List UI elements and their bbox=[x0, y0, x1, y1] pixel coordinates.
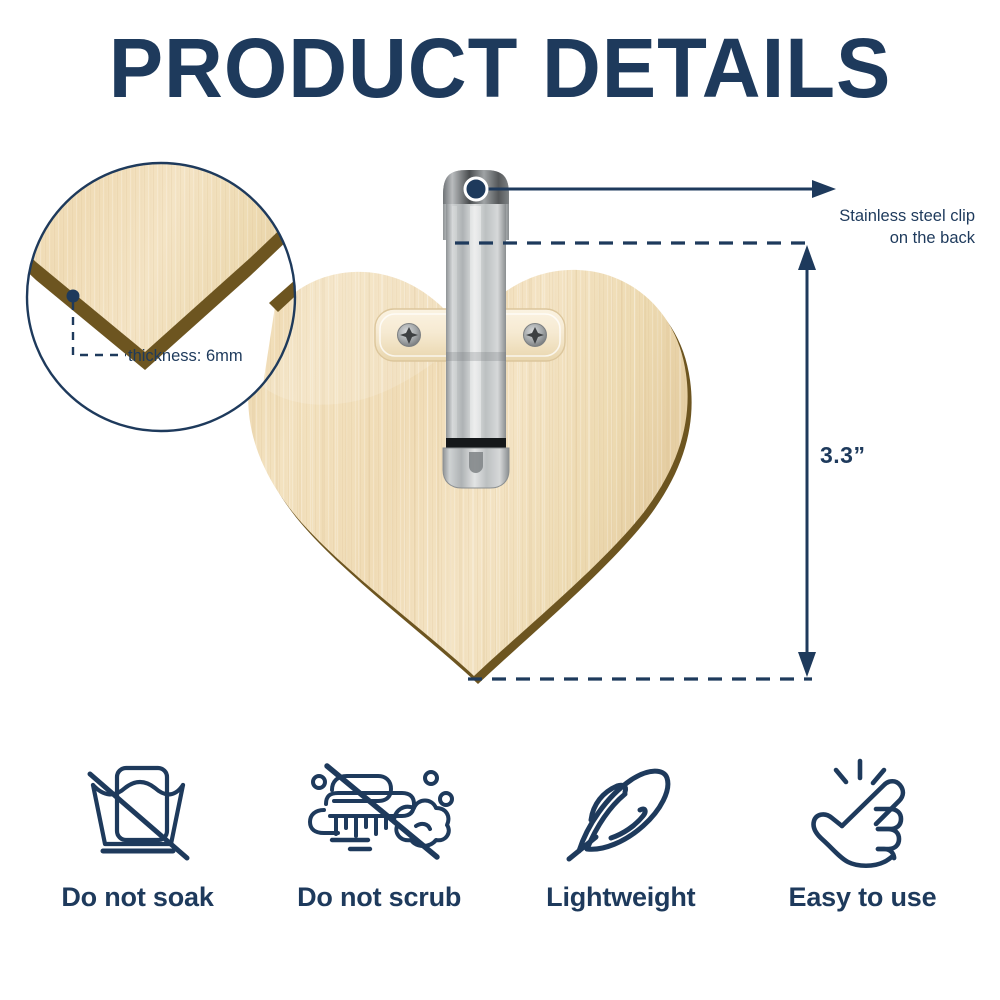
feather-icon bbox=[551, 752, 691, 872]
no-scrub-icon bbox=[294, 752, 464, 872]
screw-right bbox=[524, 324, 547, 347]
product-illustration: Stainless steel clip on the back thickne… bbox=[0, 0, 1000, 760]
arrowhead-right bbox=[812, 180, 836, 198]
arrowhead-down bbox=[798, 652, 816, 677]
thickness-marker-dot bbox=[67, 290, 80, 303]
clip-label-line2: on the back bbox=[890, 229, 975, 247]
feature-do-not-soak: Do not soak bbox=[18, 752, 257, 913]
feature-easy-to-use: Easy to use bbox=[743, 752, 982, 913]
clip-callout-arrow bbox=[465, 178, 836, 200]
feature-row: Do not soak bbox=[0, 752, 1000, 952]
clip-label-line1: Stainless steel clip bbox=[839, 207, 975, 225]
clip-callout-label: Stainless steel clip on the back bbox=[640, 205, 975, 249]
stainless-steel-clip bbox=[443, 170, 509, 488]
product-graphics bbox=[0, 0, 1000, 760]
screw-left bbox=[398, 324, 421, 347]
thickness-label: thickness: 6mm bbox=[128, 345, 243, 367]
height-dimension-label: 3.3” bbox=[820, 444, 865, 466]
feature-label: Do not scrub bbox=[297, 882, 461, 913]
feature-label: Easy to use bbox=[789, 882, 937, 913]
tap-hand-icon bbox=[792, 752, 932, 872]
strike-through-line bbox=[327, 766, 437, 857]
clip-marker-dot bbox=[465, 178, 487, 200]
no-soak-icon bbox=[63, 752, 213, 872]
feature-lightweight: Lightweight bbox=[501, 752, 740, 913]
feature-label: Do not soak bbox=[61, 882, 213, 913]
feature-label: Lightweight bbox=[546, 882, 695, 913]
feature-do-not-scrub: Do not scrub bbox=[260, 752, 499, 913]
